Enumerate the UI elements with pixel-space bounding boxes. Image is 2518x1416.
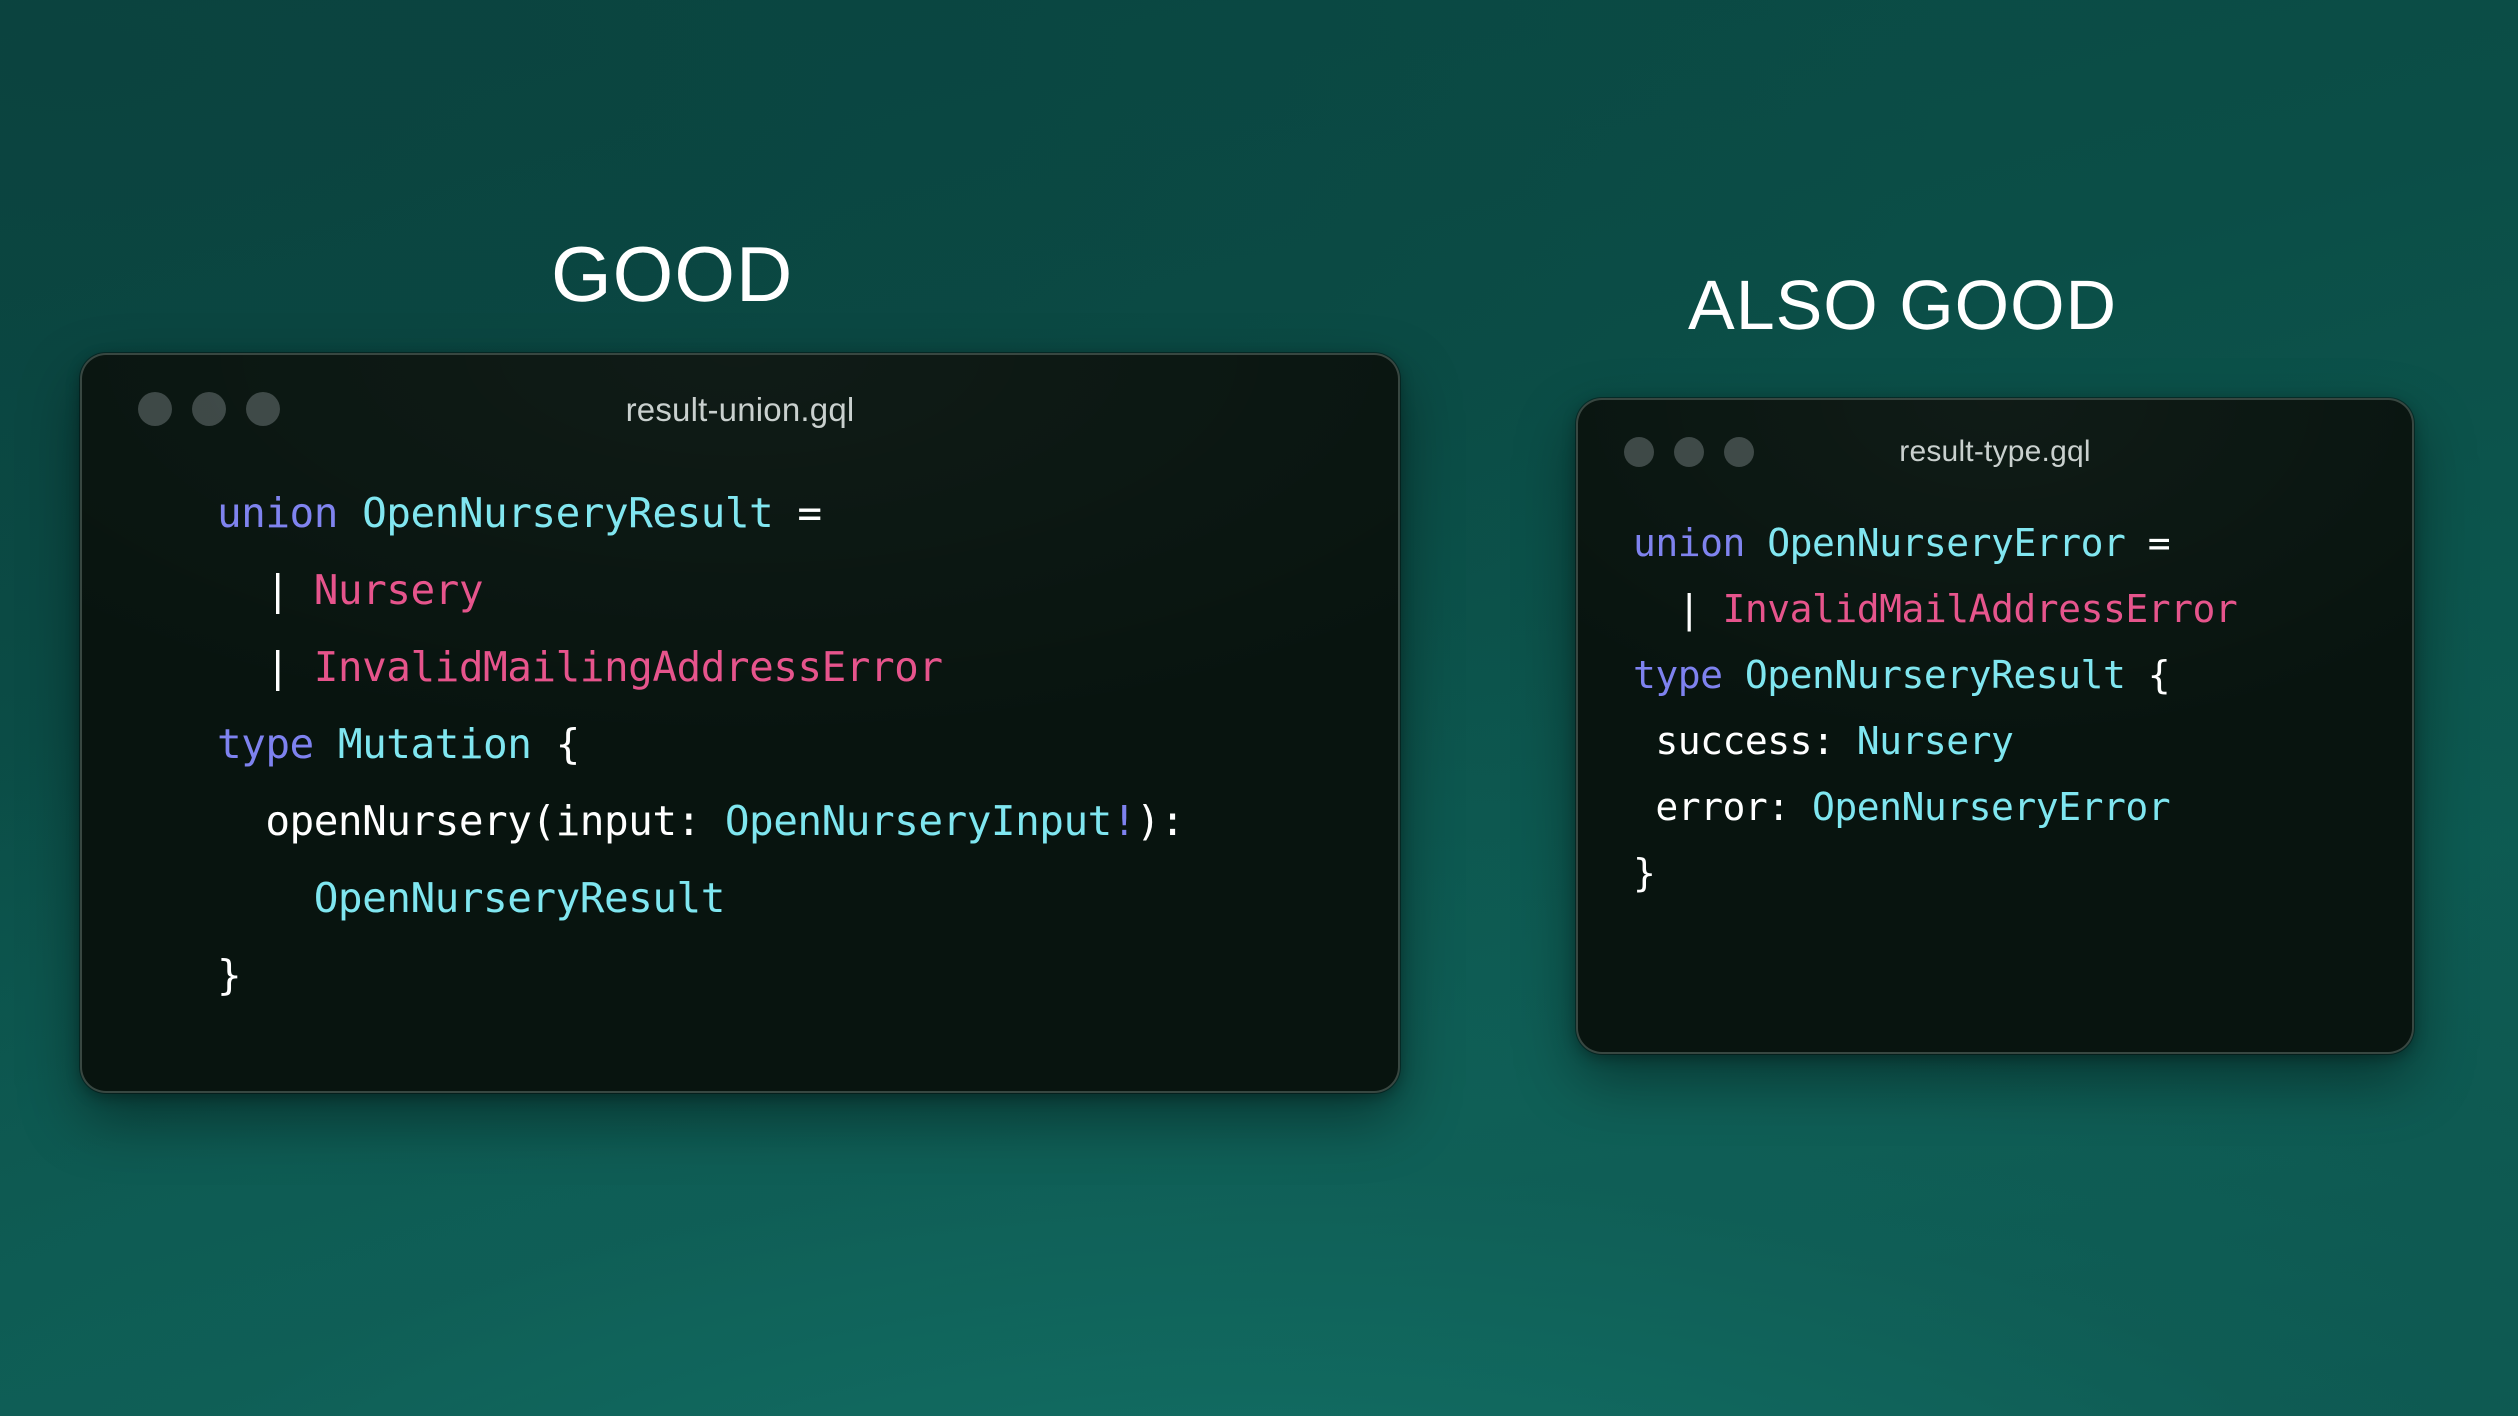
window-dot-maximize-icon[interactable] [246,392,280,426]
code-token-type: Nursery [1857,719,2014,763]
window-dot-minimize-icon[interactable] [1674,437,1704,467]
code-line: } [1633,851,1655,895]
code-token-type: OpenNurseryResult [362,489,773,537]
heading-good: GOOD [551,229,793,320]
code-token-pipe: | [217,643,314,691]
filename-label-right: result-type.gql [1899,435,2090,469]
code-window-right: result-type.gql union OpenNurseryError =… [1576,398,2414,1054]
code-token-keyword: union [217,489,362,537]
code-token-plain: ): [1136,797,1184,845]
code-token-plain: = [2125,521,2170,565]
code-line: success: Nursery [1633,719,2013,763]
window-dot-close-icon[interactable] [138,392,172,426]
code-line: union OpenNurseryResult = [217,489,822,537]
code-token-error: InvalidMailingAddressError [314,643,943,691]
code-line: error: OpenNurseryError [1633,785,2170,829]
code-token-plain: } [217,951,241,999]
traffic-lights-left [138,392,280,426]
window-dot-close-icon[interactable] [1624,437,1654,467]
code-line: openNursery(input: OpenNurseryInput!): [217,797,1184,845]
filename-label-left: result-union.gql [626,391,855,429]
code-line: OpenNurseryResult [217,874,725,922]
window-dot-maximize-icon[interactable] [1724,437,1754,467]
slide-canvas: GOOD result-union.gql union OpenNurseryR… [0,0,2518,1416]
code-token-keyword: type [217,720,338,768]
code-line: } [217,951,241,999]
code-token-bang: ! [1112,797,1136,845]
code-token-plain: = [773,489,821,537]
code-line: union OpenNurseryError = [1633,521,2170,565]
code-line: type OpenNurseryResult { [1633,653,2170,697]
code-line: type Mutation { [217,720,580,768]
code-token-type: Mutation [338,720,531,768]
code-token-plain: } [1633,851,1655,895]
code-token-plain: { [531,720,579,768]
code-token-keyword: union [1633,521,1767,565]
code-token-plain: success: [1633,719,1857,763]
heading-also-good: ALSO GOOD [1688,265,2117,345]
code-token-type: OpenNurseryError [1767,521,2125,565]
code-token-plain: error: [1633,785,1812,829]
window-dot-minimize-icon[interactable] [192,392,226,426]
code-token-type: OpenNurseryError [1812,785,2170,829]
code-token-plain: { [2125,653,2170,697]
code-token-pipe: | [217,566,314,614]
code-block-left: union OpenNurseryResult = | Nursery | In… [82,463,1398,1014]
titlebar-left: result-union.gql [82,355,1398,463]
code-token-plain: openNursery(input: [217,797,725,845]
code-token-type: OpenNurseryInput [725,797,1112,845]
code-line: | InvalidMailingAddressError [217,643,943,691]
code-token-type: OpenNurseryResult [314,874,725,922]
traffic-lights-right [1624,437,1754,467]
code-token-type: OpenNurseryResult [1745,653,2125,697]
code-token-pipe: | [1633,587,1723,631]
code-token-error: InvalidMailAddressError [1723,587,2238,631]
code-line: | InvalidMailAddressError [1633,587,2237,631]
titlebar-right: result-type.gql [1578,400,2412,504]
code-token-keyword: type [1633,653,1745,697]
code-block-right: union OpenNurseryError = | InvalidMailAd… [1578,504,2412,906]
code-token-error: Nursery [314,566,483,614]
code-token-plain [217,874,314,922]
code-window-left: result-union.gql union OpenNurseryResult… [80,353,1400,1093]
code-line: | Nursery [217,566,483,614]
